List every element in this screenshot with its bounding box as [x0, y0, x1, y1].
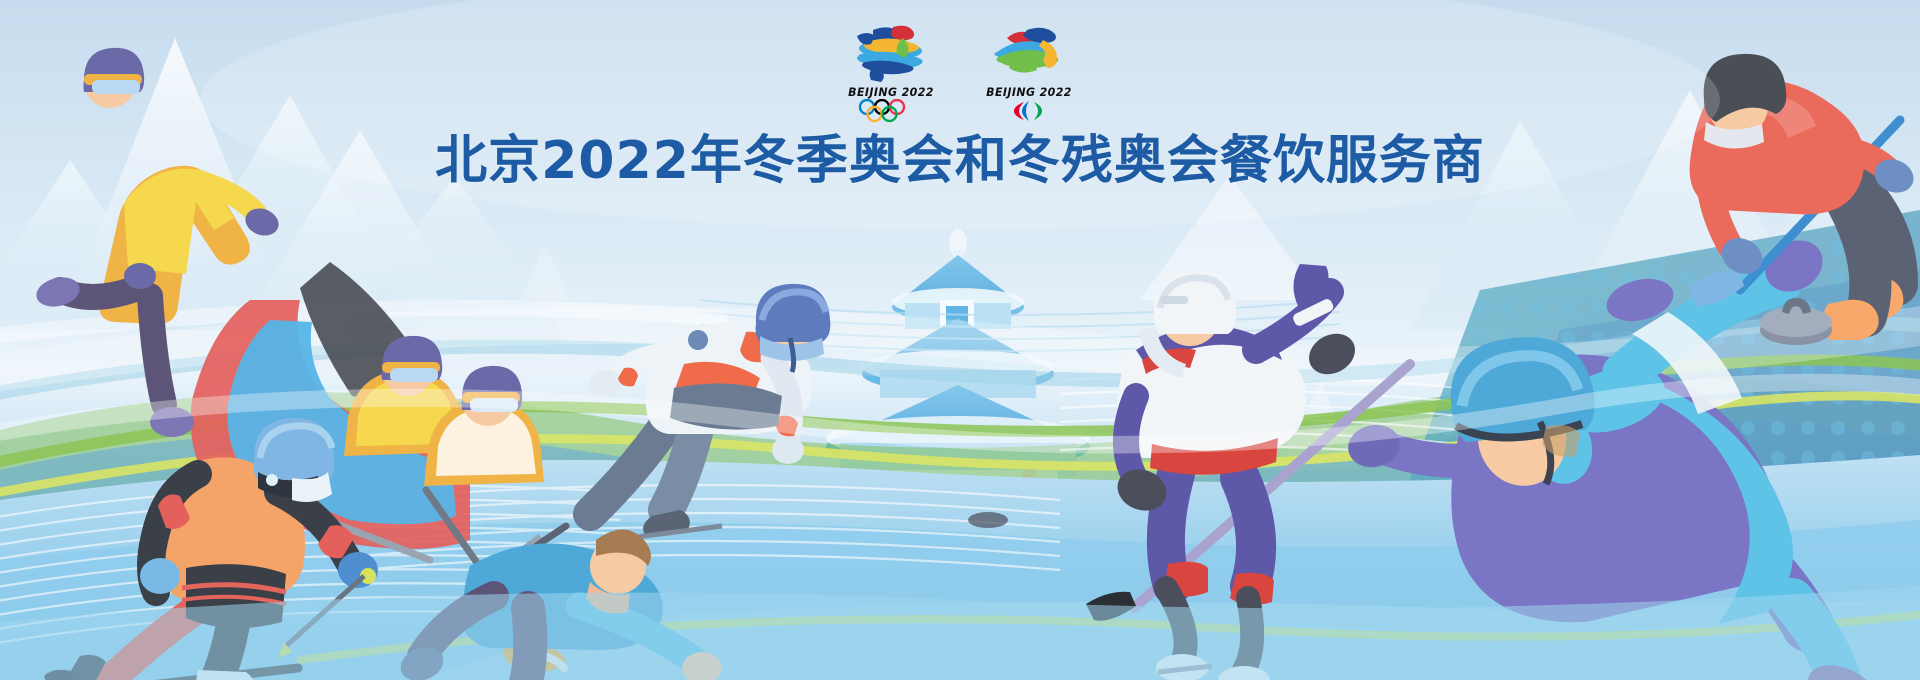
beijing-2022-paralympic-emblem: BEIJING 2022: [981, 22, 1077, 123]
emblem-group: BEIJING 2022 BEIJING 20: [843, 22, 1077, 123]
page-title: 北京2022年冬季奥会和冬残奥会餐饮服务商: [0, 118, 1920, 193]
olympic-winter-emblem-icon: [845, 22, 937, 84]
paralympic-wordmark: BEIJING 2022: [986, 86, 1072, 100]
beijing-2022-olympic-emblem: BEIJING 2022: [843, 22, 939, 123]
olympic-banner: BEIJING 2022 BEIJING 20: [0, 0, 1920, 680]
olympic-wordmark: BEIJING 2022: [848, 86, 934, 100]
paralympic-winter-emblem-icon: [983, 22, 1075, 84]
